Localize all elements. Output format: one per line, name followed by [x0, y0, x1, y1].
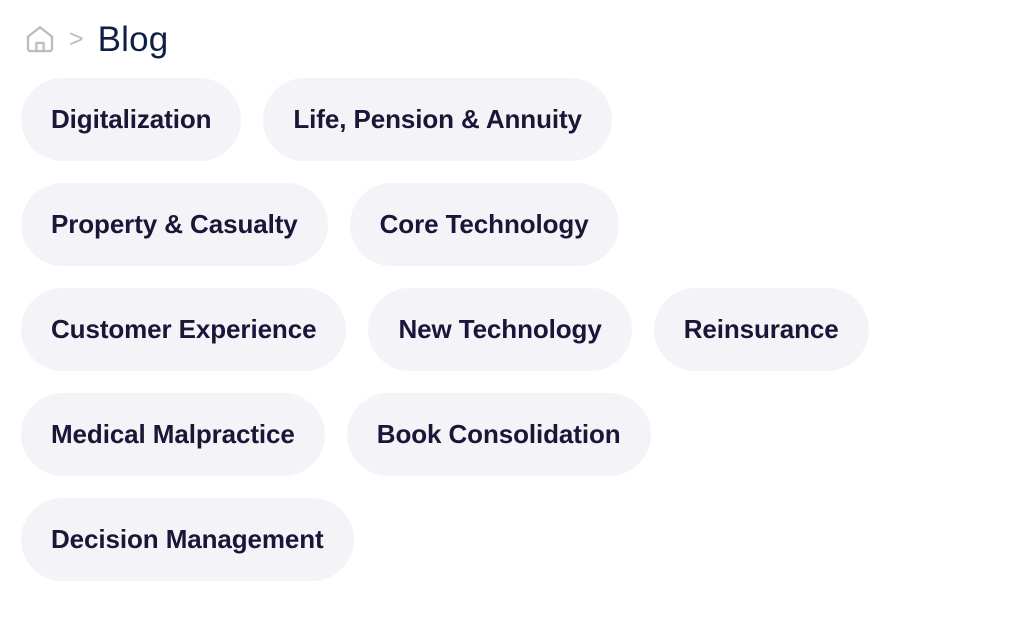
- tag-row: Digitalization Life, Pension & Annuity: [21, 78, 1028, 161]
- tag-pill-property-casualty[interactable]: Property & Casualty: [21, 183, 328, 266]
- page-title: Blog: [98, 22, 169, 57]
- blog-tag-page: > Blog Digitalization Life, Pension & An…: [0, 0, 1028, 640]
- tag-row: Medical Malpractice Book Consolidation: [21, 393, 1028, 476]
- tag-pill-decision-management[interactable]: Decision Management: [21, 498, 354, 581]
- tag-pill-core-technology[interactable]: Core Technology: [350, 183, 619, 266]
- tag-pill-medical-malpractice[interactable]: Medical Malpractice: [21, 393, 325, 476]
- tag-list: Digitalization Life, Pension & Annuity P…: [0, 78, 1028, 581]
- tag-row: Customer Experience New Technology Reins…: [21, 288, 1028, 371]
- breadcrumb: > Blog: [0, 0, 1028, 78]
- tag-row: Property & Casualty Core Technology: [21, 183, 1028, 266]
- tag-pill-digitalization[interactable]: Digitalization: [21, 78, 241, 161]
- breadcrumb-separator: >: [57, 27, 98, 52]
- tag-row: Decision Management: [21, 498, 1028, 581]
- home-icon[interactable]: [23, 22, 57, 56]
- tag-pill-life-pension-annuity[interactable]: Life, Pension & Annuity: [263, 78, 612, 161]
- tag-pill-new-technology[interactable]: New Technology: [368, 288, 631, 371]
- tag-pill-customer-experience[interactable]: Customer Experience: [21, 288, 346, 371]
- tag-pill-book-consolidation[interactable]: Book Consolidation: [347, 393, 651, 476]
- tag-pill-reinsurance[interactable]: Reinsurance: [654, 288, 869, 371]
